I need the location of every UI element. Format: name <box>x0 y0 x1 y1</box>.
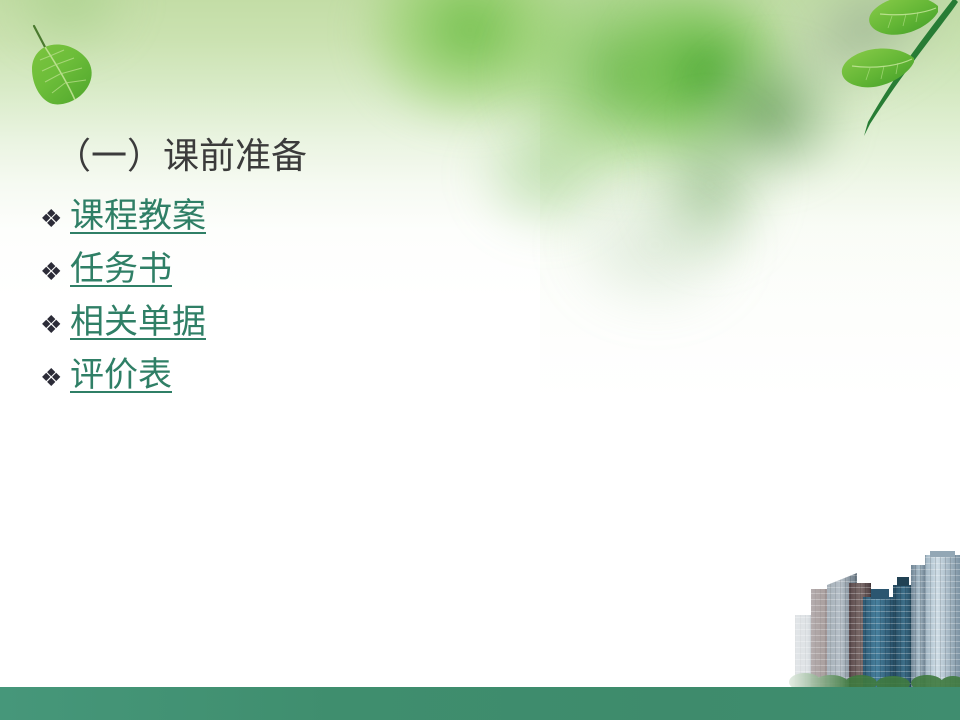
presentation-slide: （一）课前准备 ❖ 课程教案 ❖ 任务书 ❖ 相关单据 ❖ 评价表 <box>0 0 960 720</box>
list-item[interactable]: ❖ 课程教案 <box>40 190 540 243</box>
bullet-list: ❖ 课程教案 ❖ 任务书 ❖ 相关单据 ❖ 评价表 <box>40 190 540 402</box>
list-item[interactable]: ❖ 评价表 <box>40 349 540 402</box>
link-task-sheet[interactable]: 任务书 <box>70 243 172 296</box>
list-item[interactable]: ❖ 任务书 <box>40 243 540 296</box>
link-course-lesson-plan[interactable]: 课程教案 <box>70 190 206 243</box>
diamond-bullet-icon: ❖ <box>40 352 70 405</box>
slide-content: （一）课前准备 ❖ 课程教案 ❖ 任务书 ❖ 相关单据 ❖ 评价表 <box>0 0 960 720</box>
diamond-bullet-icon: ❖ <box>40 246 70 299</box>
list-item[interactable]: ❖ 相关单据 <box>40 296 540 349</box>
diamond-bullet-icon: ❖ <box>40 299 70 352</box>
link-evaluation-form[interactable]: 评价表 <box>70 349 172 402</box>
link-related-documents[interactable]: 相关单据 <box>70 296 206 349</box>
diamond-bullet-icon: ❖ <box>40 193 70 246</box>
page-title: （一）课前准备 <box>55 133 307 179</box>
